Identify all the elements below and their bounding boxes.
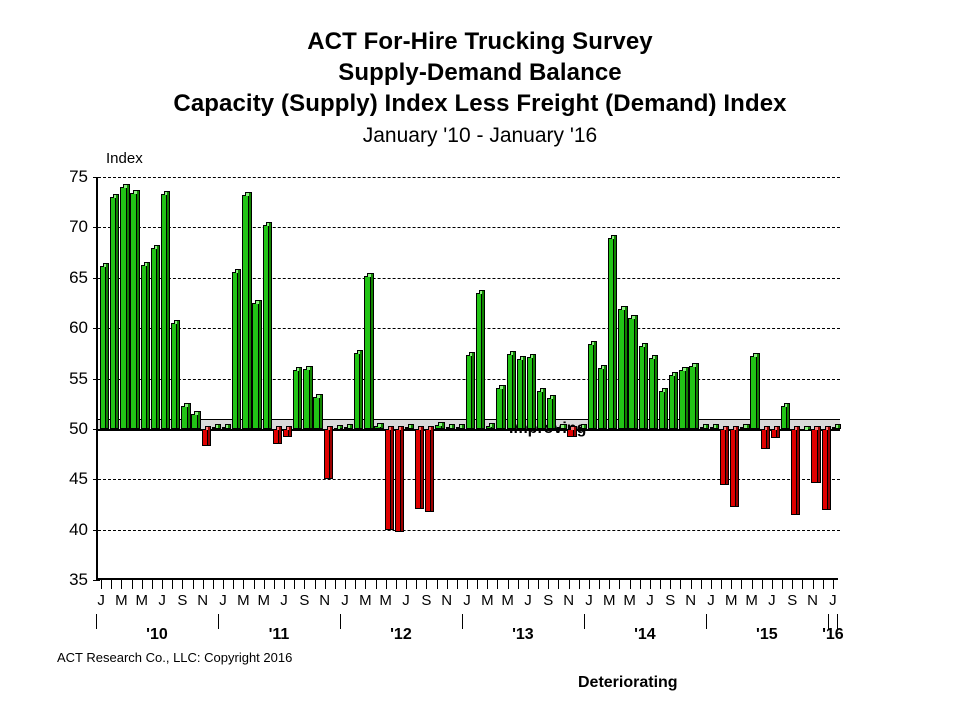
bar-Sep--13: [547, 398, 553, 429]
y-tick-label-45: 45: [48, 469, 88, 489]
bar-Dec--13: [578, 427, 584, 429]
bar-Sep--15: [791, 429, 797, 515]
bar-side-facet: [320, 394, 323, 429]
x-month-label-6: J: [152, 592, 172, 609]
bar-side-facet: [584, 424, 587, 429]
x-month-label-22: N: [315, 592, 335, 609]
x-tick-8: [182, 580, 183, 589]
x-tick-30: [406, 580, 407, 589]
bar-Feb--12: [354, 353, 360, 429]
bar-Mar--11: [242, 195, 248, 429]
bar-side-facet: [310, 366, 313, 428]
x-tick-5: [152, 580, 153, 589]
x-tick-17: [274, 580, 275, 589]
x-month-label-38: M: [477, 592, 497, 609]
x-month-label-50: M: [599, 592, 619, 609]
x-tick-37: [477, 580, 478, 589]
x-tick-52: [630, 580, 631, 589]
x-tick-12: [223, 580, 224, 589]
year-separator-15: [706, 614, 707, 629]
bar-Nov--11: [324, 429, 330, 479]
year-label-14: '14: [623, 626, 667, 644]
bar-Dec--12: [456, 427, 462, 429]
bar-side-facet: [513, 351, 516, 429]
x-tick-41: [518, 580, 519, 589]
chart-subtitle: January '10 - January '16: [0, 121, 960, 151]
bar-Oct--11: [313, 397, 319, 429]
x-tick-33: [437, 580, 438, 589]
bar-Mar--13: [486, 426, 492, 429]
bar-side-facet: [736, 426, 739, 508]
bar-Jan--10: [100, 266, 106, 429]
bar-side-facet: [157, 245, 160, 429]
x-tick-66: [772, 580, 773, 589]
x-tick-39: [497, 580, 498, 589]
chart-root: ACT For-Hire Trucking Survey Supply-Dema…: [0, 0, 960, 720]
x-month-label-46: N: [559, 592, 579, 609]
x-tick-24: [345, 580, 346, 589]
x-tick-21: [315, 580, 316, 589]
bar-Nov--10: [202, 429, 208, 446]
bar-Feb--15: [720, 429, 726, 485]
y-tick-label-50: 50: [48, 419, 88, 439]
x-month-label-52: M: [620, 592, 640, 609]
bar-Aug--10: [171, 323, 177, 429]
x-tick-26: [365, 580, 366, 589]
bar-side-facet: [492, 423, 495, 429]
x-tick-31: [416, 580, 417, 589]
x-month-label-20: S: [294, 592, 314, 609]
bar-side-facet: [777, 426, 780, 438]
bar-May--11: [263, 225, 269, 429]
x-tick-46: [569, 580, 570, 589]
bar-side-facet: [747, 424, 750, 429]
y-tick-label-40: 40: [48, 520, 88, 540]
y-axis-title: Index: [106, 150, 143, 167]
bar-side-facet: [797, 426, 800, 515]
bar-side-facet: [431, 426, 434, 513]
x-tick-64: [752, 580, 753, 589]
bar-side-facet: [452, 424, 455, 429]
bar-side-facet: [706, 424, 709, 429]
bar-side-facet: [635, 315, 638, 429]
bar-Jan--16: [832, 427, 838, 429]
bar-May--15: [750, 356, 756, 429]
bar-Aug--11: [293, 370, 299, 428]
year-label-11: '11: [257, 626, 301, 644]
x-tick-57: [680, 580, 681, 589]
bar-side-facet: [757, 353, 760, 429]
y-axis-tick-labels: 354045505560657075: [42, 177, 88, 580]
x-month-label-32: S: [416, 592, 436, 609]
x-tick-25: [355, 580, 356, 589]
x-tick-55: [660, 580, 661, 589]
bar-side-facet: [604, 365, 607, 428]
bar-Apr--12: [374, 426, 380, 429]
x-tick-42: [528, 580, 529, 589]
title-line-2: Supply-Demand Balance: [0, 57, 960, 88]
year-separator-14: [584, 614, 585, 629]
x-tick-19: [294, 580, 295, 589]
x-month-label-4: M: [132, 592, 152, 609]
x-tick-2: [121, 580, 122, 589]
x-tick-9: [193, 580, 194, 589]
x-tick-13: [233, 580, 234, 589]
year-label-10: '10: [135, 626, 179, 644]
x-month-label-64: M: [742, 592, 762, 609]
x-month-label-70: N: [803, 592, 823, 609]
bar-Nov--12: [446, 427, 452, 429]
bar-Dec--15: [822, 429, 828, 511]
x-tick-1: [111, 580, 112, 589]
y-tick-label-65: 65: [48, 268, 88, 288]
bar-Dec--11: [334, 428, 340, 430]
bar-side-facet: [289, 426, 292, 437]
bar-side-facet: [594, 341, 597, 429]
bar-side-facet: [421, 426, 424, 510]
x-tick-72: [833, 580, 834, 589]
bar-side-facet: [625, 306, 628, 429]
bar-Jan--13: [466, 355, 472, 429]
x-month-label-12: J: [213, 592, 233, 609]
bar-side-facet: [472, 352, 475, 429]
bar-side-facet: [238, 269, 241, 429]
x-tick-28: [386, 580, 387, 589]
bar-Oct--12: [435, 425, 441, 429]
x-month-label-72: J: [823, 592, 843, 609]
x-tick-70: [813, 580, 814, 589]
bar-Jun--11: [273, 429, 279, 444]
bar-side-facet: [198, 411, 201, 429]
bar-Nov--13: [567, 429, 573, 437]
bar-side-facet: [767, 426, 770, 449]
x-month-label-40: M: [498, 592, 518, 609]
bar-Sep--12: [425, 429, 431, 513]
x-tick-34: [447, 580, 448, 589]
x-month-label-36: J: [457, 592, 477, 609]
bar-side-facet: [838, 424, 841, 429]
x-tick-6: [162, 580, 163, 589]
bar-Jun--13: [517, 359, 523, 429]
bar-side-facet: [543, 388, 546, 429]
x-tick-22: [325, 580, 326, 589]
bar-side-facet: [553, 395, 556, 429]
bar-Oct--14: [679, 370, 685, 428]
x-tick-62: [731, 580, 732, 589]
bar-side-facet: [127, 184, 130, 429]
x-tick-60: [711, 580, 712, 589]
bar-Aug--15: [781, 406, 787, 429]
year-separator-10: [96, 614, 97, 629]
bar-side-facet: [462, 424, 465, 429]
bar-Jul--10: [161, 194, 167, 429]
bar-May--14: [628, 318, 634, 429]
bar-Aug--13: [537, 391, 543, 429]
bar-side-facet: [523, 356, 526, 429]
bar-side-facet: [645, 343, 648, 429]
bar-side-facet: [147, 262, 150, 429]
bar-Dec--10: [212, 427, 218, 429]
x-tick-51: [619, 580, 620, 589]
x-month-label-58: N: [681, 592, 701, 609]
bar-Jul--12: [405, 427, 411, 429]
bar-side-facet: [787, 403, 790, 429]
x-tick-40: [508, 580, 509, 589]
copyright-footer: ACT Research Co., LLC: Copyright 2016: [57, 650, 292, 665]
x-tick-48: [589, 580, 590, 589]
x-tick-67: [782, 580, 783, 589]
x-month-label-28: M: [376, 592, 396, 609]
bar-Oct--15: [801, 429, 807, 431]
bar-side-facet: [828, 426, 831, 511]
x-tick-10: [203, 580, 204, 589]
plot-area: Improving Deteriorating: [96, 177, 838, 580]
bar-Feb--14: [598, 368, 604, 428]
bar-Apr--15: [740, 427, 746, 429]
bar-side-facet: [696, 363, 699, 428]
bar-series: [98, 177, 840, 580]
x-tick-68: [792, 580, 793, 589]
bar-Jun--12: [395, 429, 401, 532]
bar-side-facet: [675, 372, 678, 428]
bar-side-facet: [208, 426, 211, 446]
x-tick-58: [691, 580, 692, 589]
bar-side-facet: [614, 235, 617, 428]
x-tick-32: [426, 580, 427, 589]
x-month-label-30: J: [396, 592, 416, 609]
x-axis-month-labels: JMMJSNJMMJSNJMMJSNJMMJSNJMMJSNJMMJSNJ: [96, 592, 838, 614]
year-separator-end: [837, 614, 838, 629]
bar-Oct--10: [191, 414, 197, 429]
x-tick-27: [376, 580, 377, 589]
bar-side-facet: [665, 388, 668, 429]
year-label-13: '13: [501, 626, 545, 644]
bar-Jun--15: [761, 429, 767, 449]
bar-side-facet: [137, 190, 140, 429]
x-tick-38: [487, 580, 488, 589]
x-month-label-42: J: [518, 592, 538, 609]
bar-Jan--12: [344, 427, 350, 429]
bar-side-facet: [360, 350, 363, 429]
bar-side-facet: [716, 424, 719, 429]
bar-side-facet: [655, 355, 658, 429]
bar-side-facet: [381, 423, 384, 429]
x-month-label-14: M: [233, 592, 253, 609]
year-label-15: '15: [745, 626, 789, 644]
x-month-label-10: N: [193, 592, 213, 609]
bar-Jan--11: [222, 427, 228, 429]
bar-side-facet: [249, 192, 252, 429]
bar-Jul--14: [649, 358, 655, 429]
x-tick-61: [721, 580, 722, 589]
year-separator-11: [218, 614, 219, 629]
x-tick-14: [243, 580, 244, 589]
x-tick-59: [701, 580, 702, 589]
bar-Dec--14: [700, 427, 706, 429]
y-tick-label-70: 70: [48, 217, 88, 237]
bar-Jul--11: [283, 429, 289, 437]
x-tick-15: [254, 580, 255, 589]
annotation-deteriorating: Deteriorating: [578, 674, 678, 692]
bar-Jul--13: [527, 357, 533, 429]
x-axis-tick-marks: [96, 580, 838, 589]
bar-side-facet: [218, 424, 221, 429]
x-tick-35: [457, 580, 458, 589]
bar-May--12: [385, 429, 391, 530]
x-tick-4: [142, 580, 143, 589]
x-month-label-34: N: [437, 592, 457, 609]
x-month-label-0: J: [91, 592, 111, 609]
year-separator-13: [462, 614, 463, 629]
x-month-label-48: J: [579, 592, 599, 609]
x-tick-3: [132, 580, 133, 589]
bar-side-facet: [228, 424, 231, 429]
x-tick-53: [640, 580, 641, 589]
x-tick-63: [741, 580, 742, 589]
x-month-label-18: J: [274, 592, 294, 609]
bar-Jun--14: [639, 346, 645, 429]
y-tick-label-55: 55: [48, 369, 88, 389]
x-tick-56: [670, 580, 671, 589]
x-tick-47: [579, 580, 580, 589]
bar-Jan--15: [710, 427, 716, 429]
x-month-label-68: S: [782, 592, 802, 609]
bar-side-facet: [259, 300, 262, 429]
title-line-3: Capacity (Supply) Index Less Freight (De…: [0, 88, 960, 119]
bar-side-facet: [818, 426, 821, 483]
x-tick-23: [335, 580, 336, 589]
bar-side-facet: [330, 426, 333, 479]
bar-Jun--10: [151, 248, 157, 429]
x-month-label-16: M: [254, 592, 274, 609]
x-month-label-44: S: [538, 592, 558, 609]
x-month-label-56: S: [660, 592, 680, 609]
bar-May--13: [507, 354, 513, 429]
bar-side-facet: [340, 425, 343, 430]
bar-Apr--13: [496, 388, 502, 429]
bar-side-facet: [503, 385, 506, 429]
x-month-label-60: J: [701, 592, 721, 609]
x-month-label-66: J: [762, 592, 782, 609]
y-tick-label-60: 60: [48, 318, 88, 338]
bar-side-facet: [686, 367, 689, 428]
bar-side-facet: [401, 426, 404, 532]
bar-side-facet: [808, 426, 811, 431]
x-tick-49: [599, 580, 600, 589]
x-tick-7: [172, 580, 173, 589]
bar-side-facet: [482, 290, 485, 429]
bar-side-facet: [533, 354, 536, 429]
bar-Mar--10: [120, 187, 126, 429]
x-tick-54: [650, 580, 651, 589]
bar-Nov--15: [811, 429, 817, 483]
bar-Mar--15: [730, 429, 736, 508]
x-tick-18: [284, 580, 285, 589]
x-tick-65: [762, 580, 763, 589]
bar-Feb--10: [110, 197, 116, 429]
bar-Apr--11: [252, 303, 258, 429]
x-tick-11: [213, 580, 214, 589]
chart-title-block: ACT For-Hire Trucking Survey Supply-Dema…: [0, 26, 960, 151]
x-tick-45: [558, 580, 559, 589]
x-tick-0: [101, 580, 102, 589]
x-tick-20: [304, 580, 305, 589]
bar-Mar--14: [608, 238, 614, 428]
bar-side-facet: [411, 424, 414, 429]
x-month-label-8: S: [172, 592, 192, 609]
x-month-label-2: M: [111, 592, 131, 609]
bar-Mar--12: [364, 276, 370, 429]
x-tick-43: [538, 580, 539, 589]
x-tick-44: [548, 580, 549, 589]
bar-side-facet: [574, 426, 577, 437]
bar-side-facet: [106, 263, 109, 429]
bar-side-facet: [350, 424, 353, 429]
bar-May--10: [141, 265, 147, 429]
bar-Sep--11: [303, 369, 309, 428]
bar-Apr--10: [130, 193, 136, 429]
y-tick-label-35: 35: [48, 570, 88, 590]
bar-Nov--14: [689, 366, 695, 428]
bar-side-facet: [564, 424, 567, 429]
bar-side-facet: [726, 426, 729, 485]
x-tick-29: [396, 580, 397, 589]
x-tick-50: [609, 580, 610, 589]
bar-side-facet: [188, 403, 191, 429]
bar-side-facet: [116, 194, 119, 429]
bar-side-facet: [167, 191, 170, 429]
bar-Jan--14: [588, 344, 594, 429]
bar-side-facet: [269, 222, 272, 429]
bar-side-facet: [391, 426, 394, 530]
y-tick-label-75: 75: [48, 167, 88, 187]
bar-Feb--13: [476, 293, 482, 429]
bar-Jul--15: [771, 429, 777, 438]
bar-Feb--11: [232, 272, 238, 429]
x-month-label-62: M: [721, 592, 741, 609]
bar-Sep--14: [669, 375, 675, 428]
bar-Apr--14: [618, 309, 624, 429]
bar-side-facet: [371, 273, 374, 429]
bar-Sep--10: [181, 406, 187, 429]
year-label-16: '16: [811, 626, 855, 644]
year-separator-12: [340, 614, 341, 629]
bar-side-facet: [299, 367, 302, 428]
x-axis-year-labels: '10'11'12'13'14'15'16: [96, 614, 838, 644]
year-label-12: '12: [379, 626, 423, 644]
x-month-label-54: J: [640, 592, 660, 609]
x-tick-16: [264, 580, 265, 589]
bar-side-facet: [279, 426, 282, 444]
title-line-1: ACT For-Hire Trucking Survey: [0, 26, 960, 57]
x-tick-71: [823, 580, 824, 589]
bar-Aug--14: [659, 391, 665, 429]
bar-side-facet: [177, 320, 180, 429]
x-month-label-26: M: [355, 592, 375, 609]
x-tick-69: [802, 580, 803, 589]
x-month-label-24: J: [335, 592, 355, 609]
bar-side-facet: [442, 422, 445, 429]
bar-Oct--13: [557, 427, 563, 429]
x-tick-36: [467, 580, 468, 589]
bar-Aug--12: [415, 429, 421, 510]
